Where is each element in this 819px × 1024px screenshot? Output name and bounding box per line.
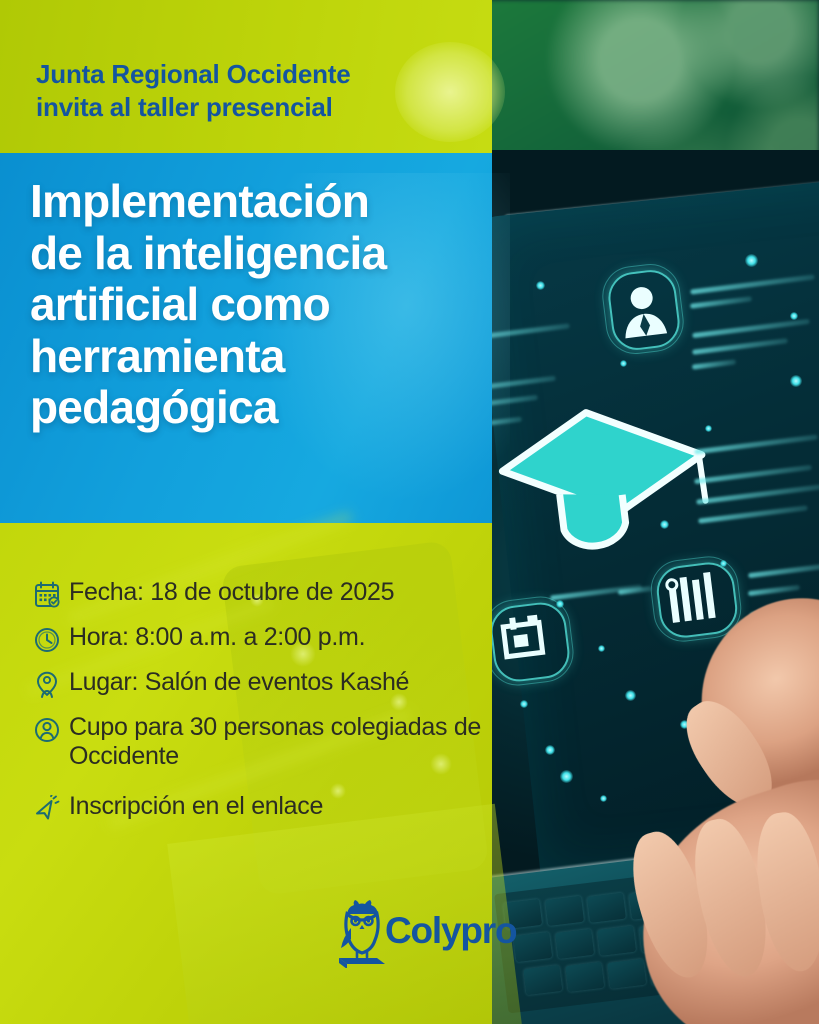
- title-line-1: Implementación: [30, 176, 490, 228]
- detail-text-capacity: Cupo para 30 personas colegiadas de Occi…: [69, 713, 484, 772]
- detail-row-time: Hora: 8:00 a.m. a 2:00 p.m.: [34, 623, 484, 654]
- user-circle-icon: [34, 716, 60, 744]
- detail-row-place: Lugar: Salón de eventos Kashé: [34, 668, 484, 699]
- page-title: Implementación de la inteligencia artifi…: [30, 176, 490, 434]
- eyebrow-line-2: invita al taller presencial: [36, 91, 466, 124]
- calendar-icon: [34, 581, 60, 609]
- detail-row-date: Fecha: 18 de octubre de 2025: [34, 578, 484, 609]
- location-pin-person-icon: [34, 671, 60, 699]
- screen-holo-frame: [488, 600, 573, 685]
- clock-icon: [34, 626, 60, 654]
- holo-spark: [600, 795, 607, 802]
- colypro-logo: Colypro: [333, 896, 485, 968]
- avatar-holo-frame: [606, 267, 683, 353]
- holo-spark: [598, 645, 605, 652]
- title-line-4: herramienta: [30, 331, 490, 383]
- content-panel: Junta Regional Occidente invita al talle…: [0, 0, 492, 1024]
- chart-holo-frame: [654, 560, 740, 641]
- colypro-wordmark: Colypro: [385, 910, 516, 952]
- holo-spark: [545, 745, 555, 755]
- cursor-click-icon: [34, 795, 60, 823]
- detail-row-capacity: Cupo para 30 personas colegiadas de Occi…: [34, 713, 484, 772]
- title-line-5: pedagógica: [30, 382, 490, 434]
- eyebrow-text: Junta Regional Occidente invita al talle…: [36, 58, 466, 124]
- eyebrow-line-1: Junta Regional Occidente: [36, 58, 466, 91]
- owl-on-book-icon: [333, 898, 391, 968]
- holo-spark: [745, 254, 758, 267]
- detail-text-time: Hora: 8:00 a.m. a 2:00 p.m.: [69, 623, 365, 652]
- holo-spark: [560, 770, 573, 783]
- holo-spark: [536, 281, 545, 290]
- poster: Junta Regional Occidente invita al talle…: [0, 0, 819, 1024]
- title-line-3: artificial como: [30, 279, 490, 331]
- title-line-2: de la inteligencia: [30, 228, 490, 280]
- holo-spark: [520, 700, 528, 708]
- detail-text-registration: Inscripción en el enlace: [69, 792, 323, 821]
- holo-spark: [790, 312, 798, 320]
- detail-text-date: Fecha: 18 de octubre de 2025: [69, 578, 394, 607]
- event-details-list: Fecha: 18 de octubre de 2025 Hora: 8:00 …: [34, 578, 484, 837]
- holo-spark: [625, 690, 636, 701]
- detail-row-registration: Inscripción en el enlace: [34, 792, 484, 823]
- holo-spark: [620, 360, 627, 367]
- detail-text-place: Lugar: Salón de eventos Kashé: [69, 668, 409, 697]
- holo-spark: [790, 375, 802, 387]
